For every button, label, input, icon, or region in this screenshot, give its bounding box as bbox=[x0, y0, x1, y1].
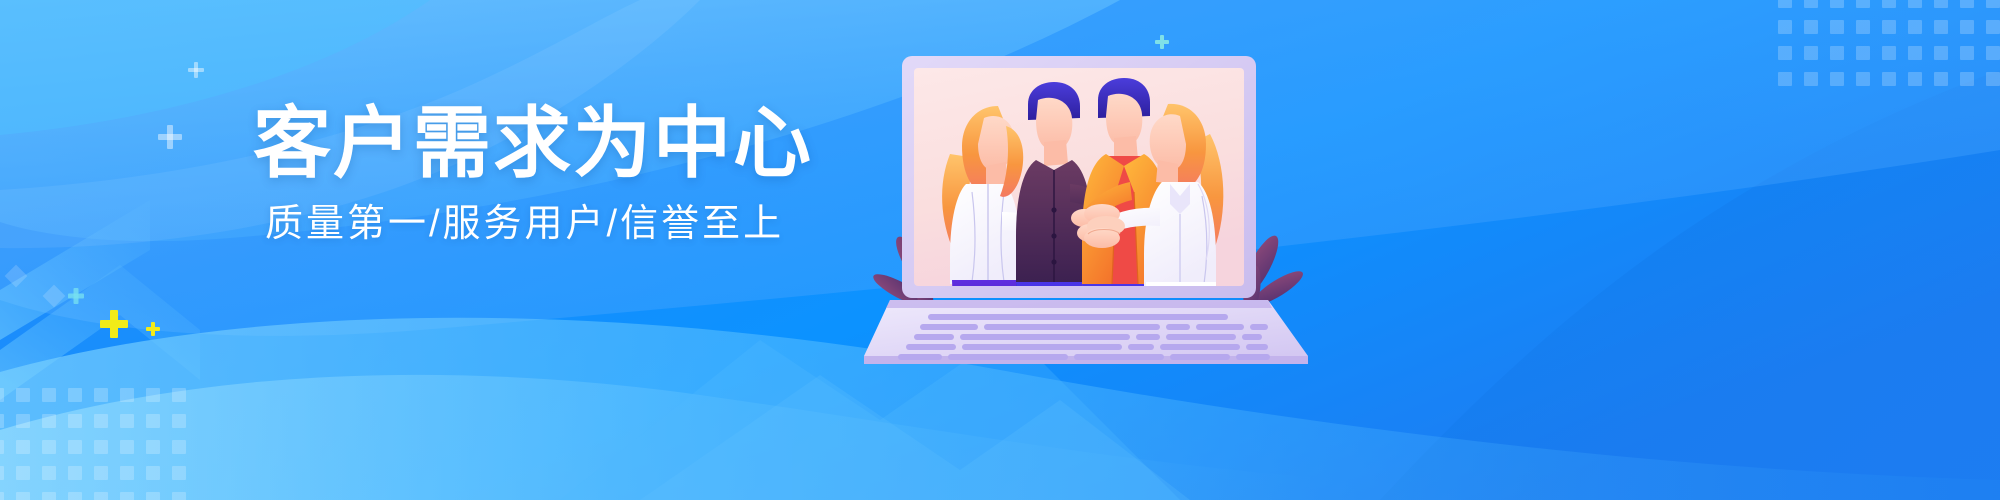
stacked-hands bbox=[1084, 204, 1125, 248]
banner-subheadline: 质量第一/服务用户/信誉至上 bbox=[265, 204, 953, 246]
banner-headline: 客户需求为中心 bbox=[253, 104, 953, 182]
promo-banner: 客户需求为中心 质量第一/服务用户/信誉至上 bbox=[0, 0, 2000, 500]
plus-icon-white-left-upper bbox=[188, 62, 204, 78]
banner-text-block: 客户需求为中心 质量第一/服务用户/信誉至上 bbox=[253, 104, 953, 246]
laptop-teamwork-illustration bbox=[880, 34, 1320, 364]
plus-icon-cyan-bottom-left-faint bbox=[68, 288, 84, 304]
dot-grid-top-right bbox=[1778, 0, 2000, 86]
plus-icon-cyan-bottom-left-large bbox=[100, 310, 128, 338]
dot-grid-bottom-left bbox=[0, 388, 186, 500]
plus-icon-cyan-bottom-left-small bbox=[146, 322, 160, 336]
plus-icon-white-left-lower bbox=[158, 125, 182, 149]
